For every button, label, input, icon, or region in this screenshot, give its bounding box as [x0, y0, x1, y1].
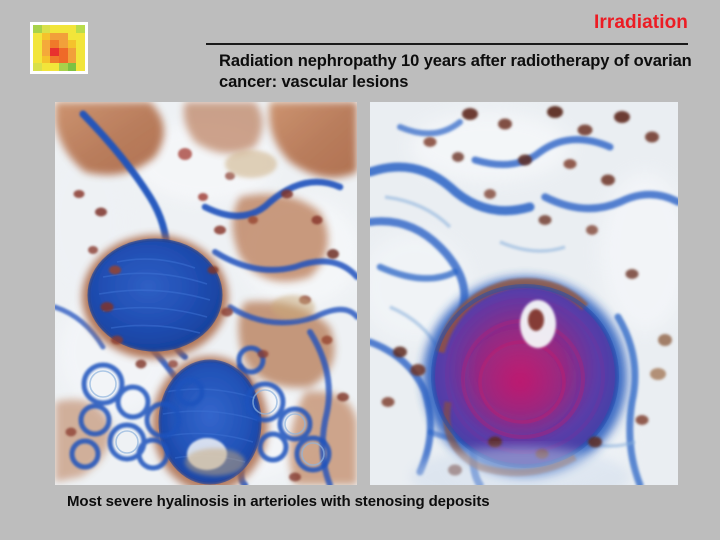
heatmap-cell-22 [68, 48, 77, 56]
title-divider [206, 43, 688, 45]
heatmap-cell-35 [76, 63, 85, 71]
heatmap-cell-25 [42, 56, 51, 64]
heatmap-cell-15 [59, 40, 68, 48]
heatmap-cell-0 [33, 25, 42, 33]
heatmap-cell-16 [68, 40, 77, 48]
section-label: Irradiation [594, 12, 688, 34]
heatmap-cell-18 [33, 48, 42, 56]
heatmap-cell-27 [59, 56, 68, 64]
heatmap-cell-31 [42, 63, 51, 71]
heatmap-cell-14 [50, 40, 59, 48]
heatmap-cell-7 [42, 33, 51, 41]
heatmap-cell-28 [68, 56, 77, 64]
heatmap-cell-3 [59, 25, 68, 33]
heatmap-cell-8 [50, 33, 59, 41]
heatmap-cell-21 [59, 48, 68, 56]
heatmap-cell-10 [68, 33, 77, 41]
figure-caption: Most severe hyalinosis in arterioles wit… [67, 493, 489, 510]
figure-row [55, 102, 678, 485]
histology-micrograph-right [370, 102, 678, 485]
heatmap-cell-6 [33, 33, 42, 41]
heatmap-cell-23 [76, 48, 85, 56]
heatmap-cell-30 [33, 63, 42, 71]
heatmap-cell-12 [33, 40, 42, 48]
heatmap-cell-34 [68, 63, 77, 71]
heatmap-cell-13 [42, 40, 51, 48]
heatmap-cell-33 [59, 63, 68, 71]
heatmap-logo [30, 22, 88, 74]
heatmap-logo-grid [33, 25, 85, 71]
micrograph-right-canvas [370, 102, 678, 485]
histology-micrograph-left [55, 102, 357, 485]
micrograph-left-canvas [55, 102, 357, 485]
heatmap-cell-24 [33, 56, 42, 64]
heatmap-cell-29 [76, 56, 85, 64]
heatmap-cell-11 [76, 33, 85, 41]
heatmap-cell-5 [76, 25, 85, 33]
heatmap-cell-32 [50, 63, 59, 71]
heatmap-cell-20 [50, 48, 59, 56]
heatmap-cell-4 [68, 25, 77, 33]
heatmap-cell-2 [50, 25, 59, 33]
page-title: Radiation nephropathy 10 years after rad… [219, 51, 699, 93]
heatmap-cell-26 [50, 56, 59, 64]
heatmap-cell-17 [76, 40, 85, 48]
heatmap-cell-9 [59, 33, 68, 41]
heatmap-cell-1 [42, 25, 51, 33]
heatmap-cell-19 [42, 48, 51, 56]
